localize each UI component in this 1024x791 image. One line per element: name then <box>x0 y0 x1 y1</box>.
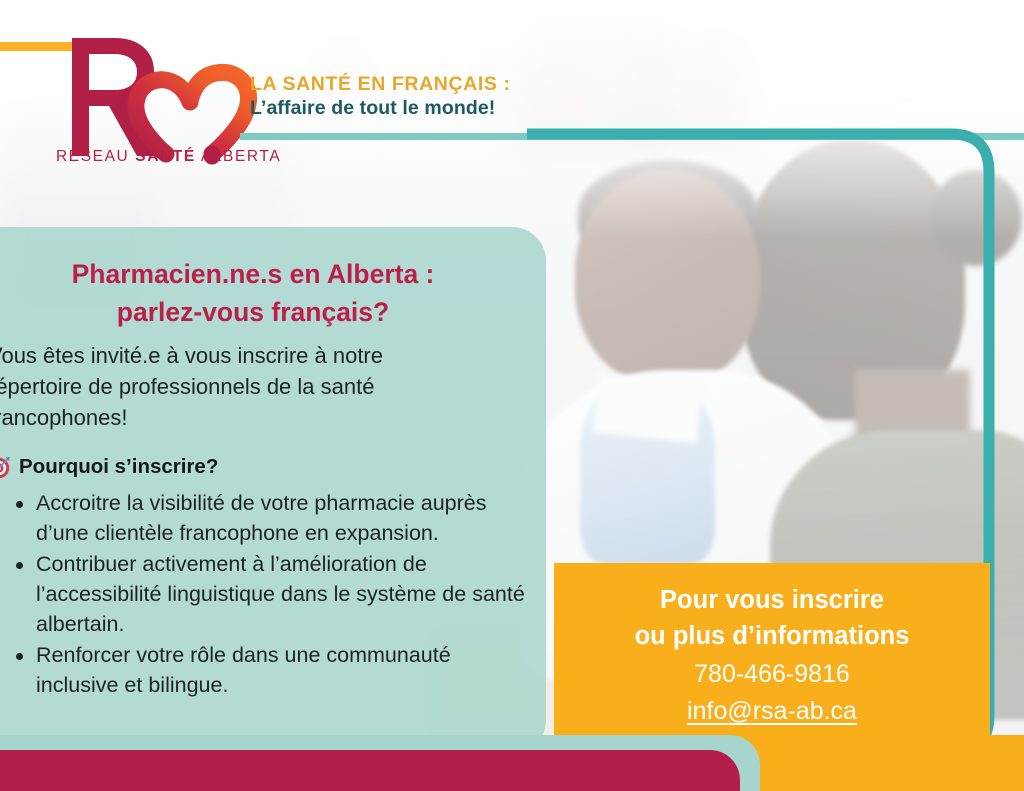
headline-line-1: Pharmacien.ne.s en Alberta : <box>8 255 498 293</box>
wordmark-prefix: RÉSEAU <box>56 148 135 165</box>
contact-heading-line-1: Pour vous inscrire <box>554 582 990 618</box>
page-title: Pharmacien.ne.s en Alberta : parlez-vous… <box>8 255 498 331</box>
contact-email-wrap: info@rsa-ab.ca <box>554 694 990 729</box>
benefits-list: Accroitre la visibilité de votre pharmac… <box>6 489 526 703</box>
why-register-heading: Pourquoi s’inscrire? <box>0 455 218 479</box>
list-item: Renforcer votre rôle dans une communauté… <box>6 641 526 700</box>
contact-heading-line-2: ou plus d’informations <box>554 618 990 654</box>
contact-panel-inner: Pour vous inscrire ou plus d’information… <box>554 582 990 729</box>
contact-phone[interactable]: 780-466-9816 <box>554 656 990 694</box>
target-dart-icon <box>0 456 11 479</box>
logo-wordmark: RÉSEAU SANTÉ ALBERTA <box>56 148 281 166</box>
rsa-logo <box>62 28 258 168</box>
content-panel-inner: Pharmacien.ne.s en Alberta : parlez-vous… <box>0 227 546 754</box>
contact-email-link[interactable]: info@rsa-ab.ca <box>687 694 857 729</box>
footer-crimson-bar <box>0 750 740 791</box>
intro-paragraph: Vous êtes invité.e à vous inscrire à not… <box>0 340 478 434</box>
tagline-line-1: LA SANTÉ EN FRANÇAIS : <box>250 72 670 96</box>
content-panel: Pharmacien.ne.s en Alberta : parlez-vous… <box>0 227 546 754</box>
tagline: LA SANTÉ EN FRANÇAIS : L’affaire de tout… <box>250 72 670 122</box>
headline-line-2: parlez-vous français? <box>8 293 498 331</box>
list-item: Contribuer activement à l’amélioration d… <box>6 550 526 639</box>
why-register-label: Pourquoi s’inscrire? <box>19 455 218 479</box>
list-item: Accroitre la visibilité de votre pharmac… <box>6 489 526 548</box>
poster: RÉSEAU SANTÉ ALBERTA LA SANTÉ EN FRANÇAI… <box>0 0 1024 791</box>
tagline-teal-rule <box>240 133 1024 140</box>
tagline-line-2: L’affaire de tout le monde! <box>250 96 670 121</box>
wordmark-suffix: ALBERTA <box>196 148 281 165</box>
wordmark-bold: SANTÉ <box>135 148 196 165</box>
